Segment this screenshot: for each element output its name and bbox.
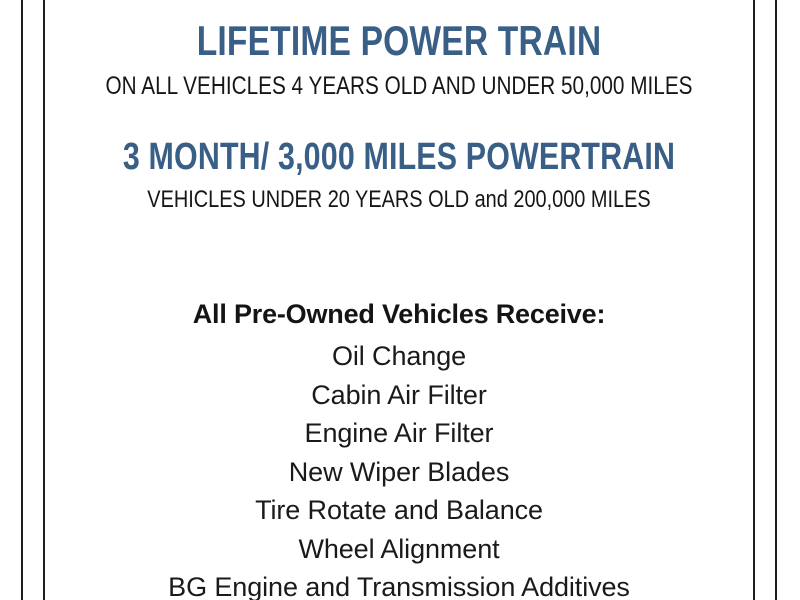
service-item: Oil Change bbox=[45, 337, 753, 376]
flyer-page: LIFETIME POWER TRAIN ON ALL VEHICLES 4 Y… bbox=[0, 0, 800, 600]
flyer-content: LIFETIME POWER TRAIN ON ALL VEHICLES 4 Y… bbox=[45, 0, 753, 600]
warranty-title-lifetime: LIFETIME POWER TRAIN bbox=[116, 20, 682, 62]
frame-rule-right-outer bbox=[775, 0, 777, 600]
warranty-subtitle-three-month: VEHICLES UNDER 20 YEARS OLD and 200,000 … bbox=[105, 188, 693, 212]
warranty-title-three-month: 3 MONTH/ 3,000 MILES POWERTRAIN bbox=[116, 138, 682, 176]
frame-rule-right-inner bbox=[753, 0, 755, 600]
services-section: All Pre-Owned Vehicles Receive: Oil Chan… bbox=[45, 297, 753, 600]
warranty-block-lifetime: LIFETIME POWER TRAIN ON ALL VEHICLES 4 Y… bbox=[45, 20, 753, 99]
services-list: Oil ChangeCabin Air FilterEngine Air Fil… bbox=[45, 337, 753, 600]
service-item: New Wiper Blades bbox=[45, 453, 753, 492]
warranty-subtitle-lifetime: ON ALL VEHICLES 4 YEARS OLD AND UNDER 50… bbox=[105, 74, 693, 99]
warranty-block-three-month: 3 MONTH/ 3,000 MILES POWERTRAIN VEHICLES… bbox=[45, 138, 753, 212]
service-item: Cabin Air Filter bbox=[45, 376, 753, 415]
frame-rule-left-outer bbox=[21, 0, 23, 600]
service-item: BG Engine and Transmission Additives bbox=[45, 568, 753, 600]
service-item: Wheel Alignment bbox=[45, 530, 753, 569]
services-heading: All Pre-Owned Vehicles Receive: bbox=[45, 297, 753, 331]
service-item: Tire Rotate and Balance bbox=[45, 491, 753, 530]
service-item: Engine Air Filter bbox=[45, 414, 753, 453]
